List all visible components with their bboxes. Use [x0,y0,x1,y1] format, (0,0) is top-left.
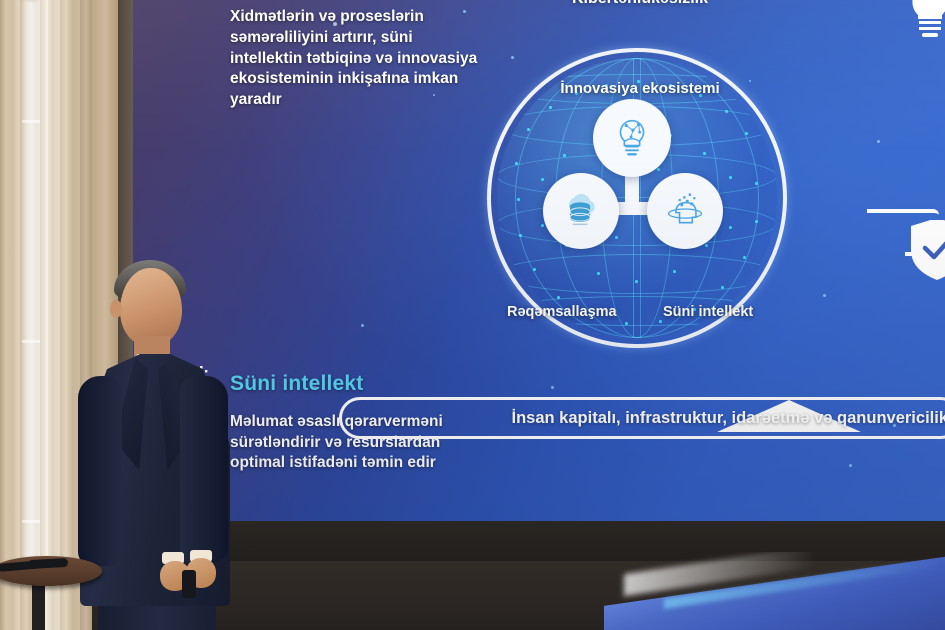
satellite-innovation[interactable] [903,0,945,48]
diagram-bottom-right-label: Süni intellekt [663,304,753,320]
node-innovation[interactable] [593,99,671,177]
ai-head-icon [664,188,706,235]
foundation-banner-text: İnsan kapitalı, infrastruktur, idarəetmə… [512,409,945,428]
diagram-bottom-left-label: Rəqəmsallaşma [507,304,617,320]
cloud-database-icon [560,189,602,234]
presenter-arm-left [78,376,122,566]
screenshot-root: Rəqəmsallaşma Xidmətlərin və proseslərin… [0,0,945,630]
diagram-top-label: Kibertəhlükəsizlik [485,0,795,8]
slide-block-digitalization: Rəqəmsallaşma Xidmətlərin və proseslərin… [178,0,508,111]
lightbulb-icon [903,0,945,48]
lightbulb-network-icon [611,114,653,163]
slide-left-column: Rəqəmsallaşma Xidmətlərin və proseslərin… [178,0,508,300]
node-ai[interactable] [647,173,723,249]
ecosystem-diagram: Kibertəhlükəsizlik [485,42,795,442]
shield-check-icon [903,220,945,282]
presenter-clicker [182,570,196,598]
presenter-ear [110,300,122,318]
conference-desk [604,552,945,630]
block-body: Xidmətlərin və proseslərin səmərəliliyin… [230,7,480,111]
presenter-arm-right [180,376,228,562]
satellite-cybersecurity[interactable] [903,220,945,282]
side-table [0,556,104,630]
node-digitalization[interactable] [543,173,619,249]
presenter-head [120,268,182,346]
window-frame [18,0,48,560]
foundation-banner: İnsan kapitalı, infrastruktur, idarəetmə… [339,397,945,439]
diagram-sphere-label: İnnovasiya ekosistemi [485,80,795,97]
